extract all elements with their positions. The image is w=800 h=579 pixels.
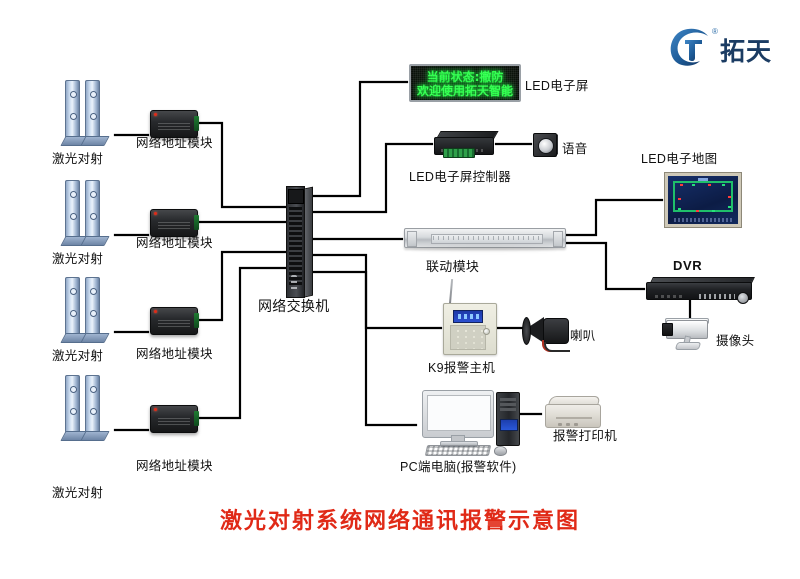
laser-post-base-right bbox=[80, 236, 109, 246]
led-screen-controller-label: LED电子屏控制器 bbox=[409, 166, 511, 185]
pc-workstation-label: PC端电脑(报警软件) bbox=[400, 456, 517, 475]
voice-module[interactable] bbox=[533, 133, 559, 157]
network-address-module-4-label: 网络地址模块 bbox=[136, 455, 213, 474]
laser-post-left bbox=[65, 180, 80, 238]
alarm-host-lcd bbox=[453, 310, 483, 323]
alarm-host-label: K9报警主机 bbox=[428, 357, 495, 376]
laser-post-right bbox=[85, 375, 100, 433]
network-address-module-4[interactable] bbox=[150, 405, 198, 433]
ip-camera[interactable] bbox=[662, 318, 716, 350]
module-power-led-icon bbox=[154, 212, 157, 215]
laser-barrier-2[interactable] bbox=[63, 180, 115, 246]
led-map-screen bbox=[668, 176, 738, 224]
laser-post-base-right bbox=[80, 431, 109, 441]
module-power-led-icon bbox=[154, 113, 157, 116]
siren-horn-label: 喇叭 bbox=[570, 325, 596, 344]
laser-barrier-1-label: 激光对射 bbox=[52, 148, 103, 167]
led-screen-controller[interactable] bbox=[434, 131, 496, 157]
voice-body bbox=[533, 133, 557, 157]
network-address-module-1-label: 网络地址模块 bbox=[136, 132, 213, 151]
laser-barrier-4-label: 激光对射 bbox=[52, 482, 103, 501]
ip-camera-label: 摄像头 bbox=[716, 330, 754, 349]
dvr-front-panel bbox=[646, 282, 752, 300]
linkage-module-label: 联动模块 bbox=[426, 256, 479, 275]
module-connector-icon bbox=[194, 411, 199, 426]
monitor bbox=[422, 390, 494, 438]
registered-mark: ® bbox=[712, 27, 718, 36]
tower-front-panel bbox=[500, 419, 518, 431]
led-map-label: LED电子地图 bbox=[641, 148, 717, 167]
controller-terminal-block-icon bbox=[443, 148, 475, 158]
laser-barrier-1[interactable] bbox=[63, 80, 115, 146]
network-switch[interactable] bbox=[286, 186, 312, 296]
horn-wire-black bbox=[544, 342, 570, 352]
laser-barrier-3[interactable] bbox=[63, 277, 115, 343]
alarm-printer-label: 报警打印机 bbox=[553, 425, 617, 444]
brand-logo: ® 拓天 bbox=[668, 26, 796, 70]
antenna-icon bbox=[449, 279, 453, 305]
brand-name: 拓天 bbox=[720, 32, 772, 68]
monitor-screen[interactable] bbox=[427, 395, 491, 431]
speaker-icon bbox=[538, 138, 554, 154]
module-connector-icon bbox=[194, 116, 199, 131]
laser-post-base-right bbox=[80, 333, 109, 343]
linkage-terminals bbox=[433, 236, 539, 240]
dvr-buttons bbox=[699, 294, 735, 299]
module-print bbox=[158, 418, 190, 425]
dvr-label: DVR bbox=[673, 258, 702, 273]
led-display-label: LED电子屏 bbox=[525, 75, 589, 94]
laser-post-right bbox=[85, 277, 100, 335]
alarm-host-keypad[interactable] bbox=[450, 325, 486, 350]
led-electronic-map[interactable] bbox=[664, 172, 742, 228]
network-address-module-3-label: 网络地址模块 bbox=[136, 343, 213, 362]
switch-face bbox=[286, 186, 305, 298]
alarm-host-indicator-icon bbox=[483, 328, 490, 335]
switch-indicator-leds bbox=[291, 275, 297, 293]
horn-mouth bbox=[522, 317, 531, 345]
laser-post-right bbox=[85, 80, 100, 138]
module-connector-icon bbox=[194, 313, 199, 328]
pc-workstation[interactable] bbox=[418, 390, 538, 452]
led-dot-matrix-overlay bbox=[411, 66, 519, 100]
switch-ports bbox=[289, 207, 302, 285]
linkage-module[interactable] bbox=[404, 228, 564, 250]
pc-tower bbox=[496, 392, 520, 446]
module-print bbox=[158, 222, 190, 229]
alarm-host-body bbox=[443, 303, 497, 355]
laser-barrier-3-label: 激光对射 bbox=[52, 345, 103, 364]
laser-post-left bbox=[65, 277, 80, 335]
led-display-panel[interactable]: 当前状态:撤防 欢迎使用拓天智能 bbox=[409, 64, 521, 102]
map-caption bbox=[674, 218, 732, 222]
network-address-module-2-label: 网络地址模块 bbox=[136, 232, 213, 251]
laser-barrier-2-label: 激光对射 bbox=[52, 248, 103, 267]
module-power-led-icon bbox=[154, 408, 157, 411]
diagram-canvas: ® 拓天 激光对射 网络地址模块 激光对射 网络地址模块 激光对射 bbox=[0, 0, 800, 579]
alarm-host[interactable] bbox=[443, 303, 495, 353]
mouse[interactable] bbox=[494, 446, 507, 456]
module-connector-icon bbox=[194, 215, 199, 230]
voice-module-label: 语音 bbox=[562, 138, 588, 157]
module-print bbox=[158, 320, 190, 327]
laser-post-right bbox=[85, 180, 100, 238]
switch-top-panel bbox=[288, 189, 304, 204]
network-switch-label: 网络交换机 bbox=[258, 296, 330, 316]
module-print bbox=[158, 123, 190, 130]
network-address-module-3[interactable] bbox=[150, 307, 198, 335]
dvr-recorder[interactable] bbox=[646, 277, 754, 301]
laser-post-base-right bbox=[80, 136, 109, 146]
camera-mount bbox=[675, 342, 702, 350]
laser-barrier-4[interactable] bbox=[63, 375, 115, 441]
camera-lens-icon bbox=[662, 323, 673, 336]
linkage-body bbox=[404, 228, 566, 248]
rack-ear-left bbox=[407, 231, 417, 247]
keyboard[interactable] bbox=[425, 445, 491, 456]
dvr-brand-print bbox=[655, 295, 685, 298]
laser-post-left bbox=[65, 80, 80, 138]
dvr-jog-dial-icon bbox=[737, 292, 749, 304]
rack-ear-right bbox=[553, 231, 563, 247]
module-power-led-icon bbox=[154, 310, 157, 313]
logo-mark-icon bbox=[668, 28, 714, 68]
linkage-shadow bbox=[412, 246, 556, 250]
printer-paper-slot bbox=[556, 417, 592, 419]
laser-post-left bbox=[65, 375, 80, 433]
diagram-title: 激光对射系统网络通讯报警示意图 bbox=[0, 503, 800, 535]
